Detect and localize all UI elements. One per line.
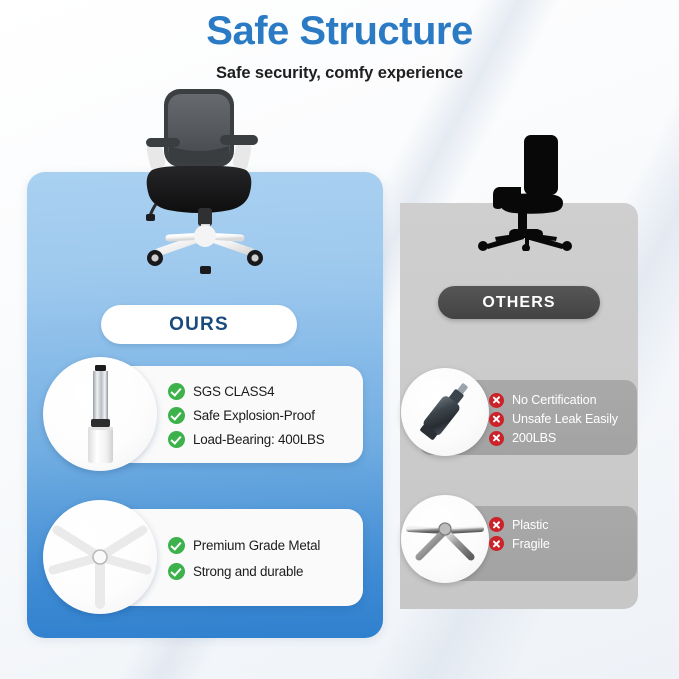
- feature-label: Strong and durable: [193, 564, 303, 579]
- ours-card-2-image-circle: [43, 500, 157, 614]
- others-badge: OTHERS: [438, 286, 600, 319]
- page-title: Safe Structure: [0, 8, 679, 55]
- feature-row: Fragile: [489, 536, 639, 551]
- feature-label: Safe Explosion-Proof: [193, 408, 315, 423]
- feature-label: SGS CLASS4: [193, 384, 274, 399]
- ours-badge-label: OURS: [169, 314, 229, 336]
- others-card-1-image-circle: [401, 368, 489, 456]
- feature-label: 200LBS: [512, 431, 556, 445]
- feature-row: 200LBS: [489, 431, 639, 446]
- ours-hero-chair-image: [128, 86, 288, 274]
- check-circle-icon: [168, 537, 185, 554]
- feature-row: Safe Explosion-Proof: [168, 407, 368, 424]
- page-subtitle: Safe security, comfy experience: [0, 64, 679, 83]
- cross-circle-icon: [489, 536, 504, 551]
- comparison-infographic: Safe Structure Safe security, comfy expe…: [0, 0, 679, 679]
- feature-label: Premium Grade Metal: [193, 538, 320, 553]
- feature-row: Load-Bearing: 400LBS: [168, 431, 368, 448]
- gas-cylinder-black-icon: [401, 368, 489, 456]
- check-circle-icon: [168, 431, 185, 448]
- header: Safe Structure Safe security, comfy expe…: [0, 8, 679, 83]
- others-card-2-image-circle: [401, 495, 489, 583]
- feature-label: Unsafe Leak Easily: [512, 412, 618, 426]
- feature-row: Plastic: [489, 517, 639, 532]
- gas-cylinder-white-icon: [43, 357, 157, 471]
- others-hero-chair-image: [471, 133, 581, 251]
- feature-row: Premium Grade Metal: [168, 537, 368, 554]
- five-star-base-silver-icon: [401, 495, 489, 583]
- cross-circle-icon: [489, 431, 504, 446]
- feature-label: Fragile: [512, 537, 550, 551]
- five-star-base-white-icon: [43, 500, 157, 614]
- feature-row: Strong and durable: [168, 563, 368, 580]
- others-badge-label: OTHERS: [482, 294, 555, 312]
- feature-label: No Certification: [512, 393, 597, 407]
- cross-circle-icon: [489, 393, 504, 408]
- others-card-2-feature-list: Plastic Fragile: [489, 517, 639, 565]
- check-circle-icon: [168, 383, 185, 400]
- ours-card-1-feature-list: SGS CLASS4 Safe Explosion-Proof Load-Bea…: [168, 374, 368, 456]
- ours-badge: OURS: [101, 305, 297, 344]
- feature-label: Load-Bearing: 400LBS: [193, 432, 325, 447]
- feature-row: Unsafe Leak Easily: [489, 412, 639, 427]
- feature-row: No Certification: [489, 393, 639, 408]
- cross-circle-icon: [489, 517, 504, 532]
- feature-label: Plastic: [512, 518, 548, 532]
- ours-card-1-image-circle: [43, 357, 157, 471]
- check-circle-icon: [168, 563, 185, 580]
- check-circle-icon: [168, 407, 185, 424]
- cross-circle-icon: [489, 412, 504, 427]
- others-card-1-feature-list: No Certification Unsafe Leak Easily 200L…: [489, 388, 639, 450]
- ours-card-2-feature-list: Premium Grade Metal Strong and durable: [168, 524, 368, 592]
- feature-row: SGS CLASS4: [168, 383, 368, 400]
